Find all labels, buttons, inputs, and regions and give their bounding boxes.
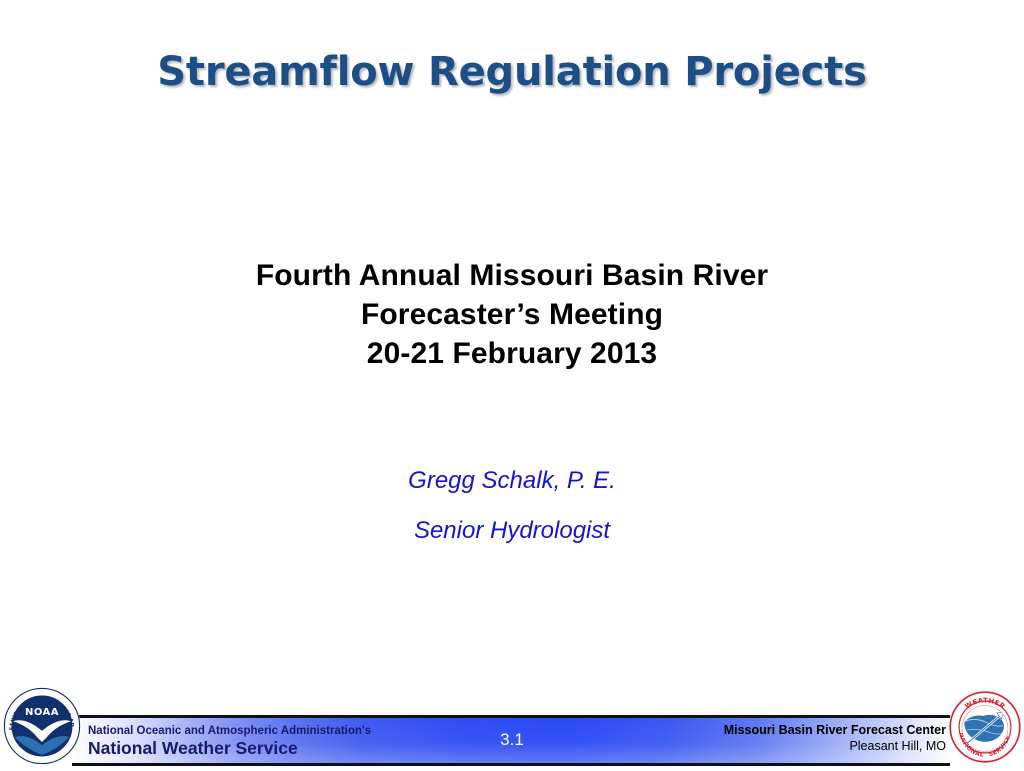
nws-logo-icon: WEATHER NATIONAL SERVICE [948, 690, 1022, 764]
forecast-center-location: Pleasant Hill, MO [724, 738, 946, 754]
page-title: Streamflow Regulation Projects [0, 49, 1024, 95]
heading-line-1: Fourth Annual Missouri Basin River [0, 256, 1024, 295]
author-role: Senior Hydrologist [0, 516, 1024, 546]
noaa-logo-icon: NATIONAL OCEANIC AND ATMOSPHERIC ADMINIS… [2, 686, 82, 766]
svg-text:NOAA: NOAA [25, 707, 59, 718]
slide-canvas: Streamflow Regulation Projects Fourth An… [0, 0, 1024, 768]
author-name: Gregg Schalk, P. E. [0, 466, 1024, 496]
heading-line-3: 20-21 February 2013 [0, 334, 1024, 373]
forecast-center-label: Missouri Basin River Forecast Center [724, 722, 946, 738]
author-block: Gregg Schalk, P. E. Senior Hydrologist [0, 466, 1024, 546]
heading-line-2: Forecaster’s Meeting [0, 295, 1024, 334]
heading-block: Fourth Annual Missouri Basin River Forec… [0, 256, 1024, 373]
footer-right-text: Missouri Basin River Forecast Center Ple… [724, 722, 946, 754]
footer-rule-bottom [72, 763, 950, 766]
